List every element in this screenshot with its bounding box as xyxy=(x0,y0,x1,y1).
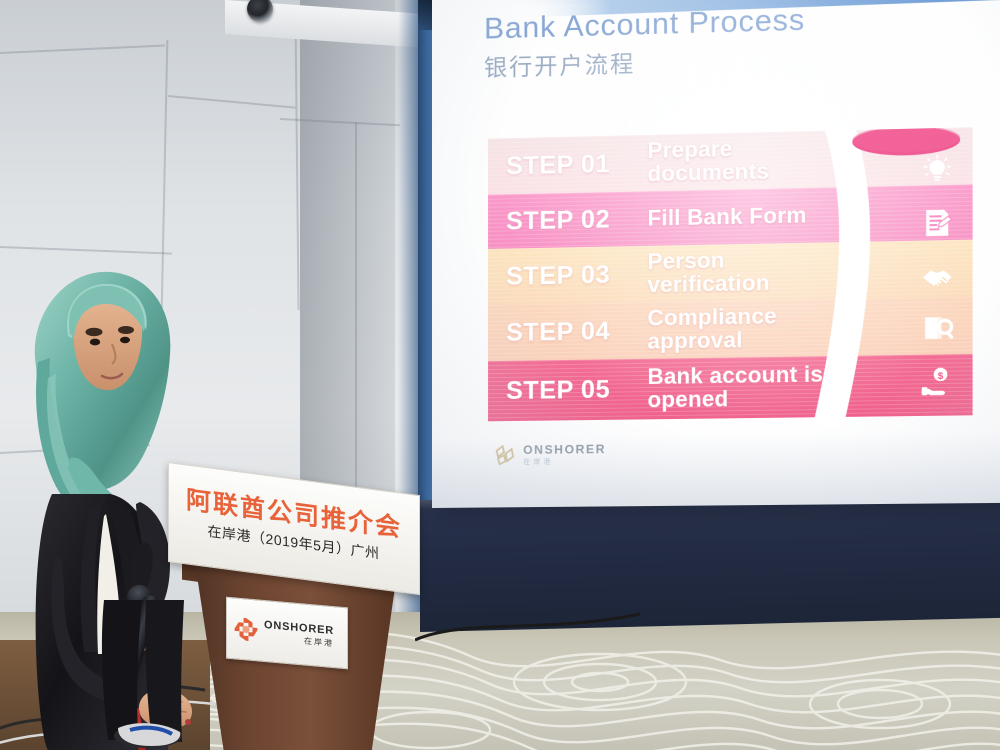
step-icon-column: $ xyxy=(902,127,973,424)
step-number: STEP 04 xyxy=(506,316,647,347)
step-number: STEP 05 xyxy=(506,374,647,405)
slide-logo-sub: 在岸港 xyxy=(523,456,606,467)
document-search-icon xyxy=(920,311,955,346)
step-number: STEP 01 xyxy=(506,149,647,181)
step-band: STEP 03 Person verification xyxy=(488,240,973,305)
step-band: STEP 05 Bank account is opened xyxy=(488,354,973,421)
handshake-icon xyxy=(920,258,955,293)
step-number: STEP 03 xyxy=(506,259,647,291)
onshorer-logo-icon xyxy=(233,615,259,643)
step-band: STEP 04 Compliance approval xyxy=(488,297,973,361)
step-label: Bank account is opened xyxy=(648,363,837,412)
presenter-legs xyxy=(86,600,216,750)
projection-screen: Bank Account Process 银行开户流程 STEP 01 Prep… xyxy=(432,0,1000,508)
podium-logo-plate: ONSHORER 在岸港 xyxy=(226,597,348,670)
slide-canvas: Bank Account Process 银行开户流程 STEP 01 Prep… xyxy=(432,0,1000,508)
process-funnel-graphic: STEP 01 Prepare documents STEP 02 Fill B… xyxy=(488,127,973,429)
slide-subtitle: 银行开户流程 xyxy=(484,44,635,82)
diamond-cube-icon xyxy=(492,443,516,467)
step-band: STEP 01 Prepare documents xyxy=(488,127,973,195)
step-number: STEP 02 xyxy=(506,204,647,236)
step-label: Compliance approval xyxy=(648,305,812,354)
lightbulb-icon xyxy=(920,152,955,187)
step-label: Fill Bank Form xyxy=(648,204,807,230)
slide-logo-name: ONSHORER xyxy=(523,442,606,457)
document-form-icon xyxy=(920,205,955,240)
step-band: STEP 02 Fill Bank Form xyxy=(488,184,973,248)
step-label: Person verification xyxy=(648,248,801,297)
slide-logo: ONSHORER 在岸港 xyxy=(492,442,606,467)
hand-coin-icon: $ xyxy=(920,364,955,399)
svg-text:$: $ xyxy=(938,371,944,382)
presentation-photo-scene: Bank Account Process 银行开户流程 STEP 01 Prep… xyxy=(0,0,1000,750)
step-label: Prepare documents xyxy=(648,136,832,186)
